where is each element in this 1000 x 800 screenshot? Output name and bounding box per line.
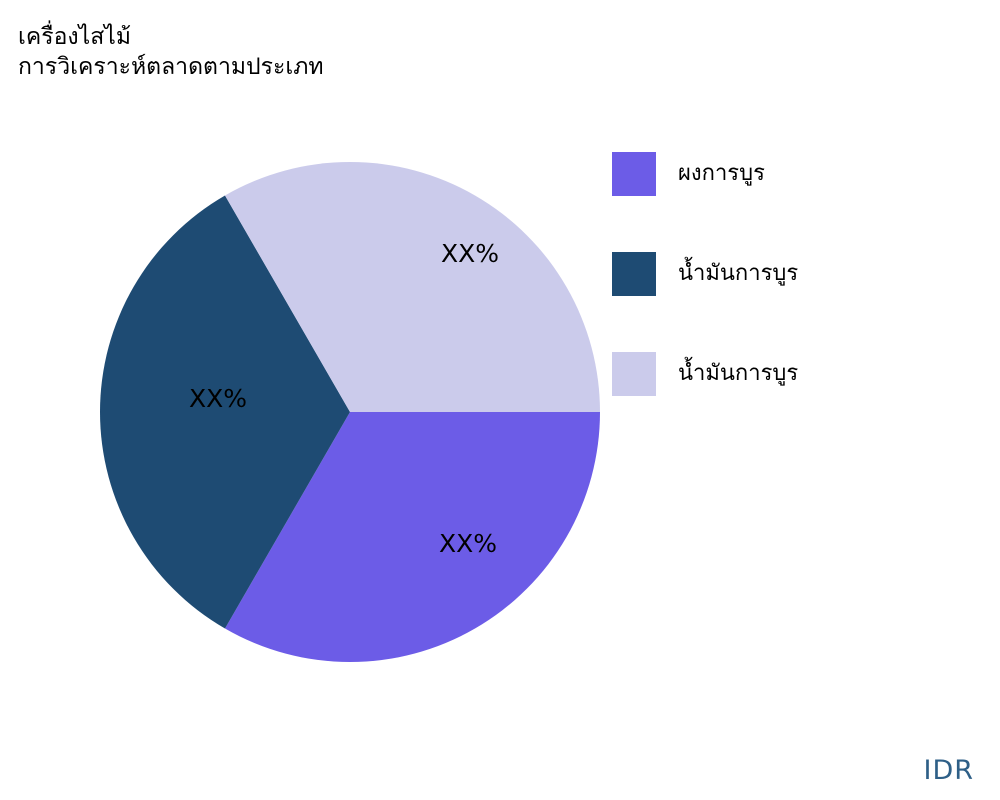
pie-slice-label-1: XX% (189, 384, 247, 413)
legend-item-0[interactable]: ผงการบูร (612, 152, 992, 252)
chart-page: เครื่องไสไม้ การวิเคราะห์ตลาดตามประเภท X… (0, 0, 1000, 800)
pie-slice-label-0: XX% (439, 529, 497, 558)
legend-item-2[interactable]: น้ำมันการบูร (612, 352, 992, 452)
legend-label-1: น้ำมันการบูร (678, 252, 798, 296)
title-line-1: เครื่องไสไม้ (18, 22, 638, 52)
pie-chart-svg: XX%XX%XX% (0, 120, 620, 740)
legend-swatch-camphor-oil-light (612, 352, 656, 396)
legend-item-1[interactable]: น้ำมันการบูร (612, 252, 992, 352)
legend-label-2: น้ำมันการบูร (678, 352, 798, 396)
pie-chart: XX%XX%XX% (0, 120, 620, 740)
watermark-idr: IDR (923, 755, 974, 786)
title-line-2: การวิเคราะห์ตลาดตามประเภท (18, 52, 638, 82)
legend-label-0: ผงการบูร (678, 152, 765, 196)
legend-swatch-camphor-powder (612, 152, 656, 196)
pie-slice-group (100, 162, 600, 662)
page-title: เครื่องไสไม้ การวิเคราะห์ตลาดตามประเภท (18, 22, 638, 82)
legend-swatch-camphor-oil-dark (612, 252, 656, 296)
chart-legend: ผงการบูร น้ำมันการบูร น้ำมันการบูร (612, 152, 992, 452)
pie-slice-label-2: XX% (441, 239, 499, 268)
